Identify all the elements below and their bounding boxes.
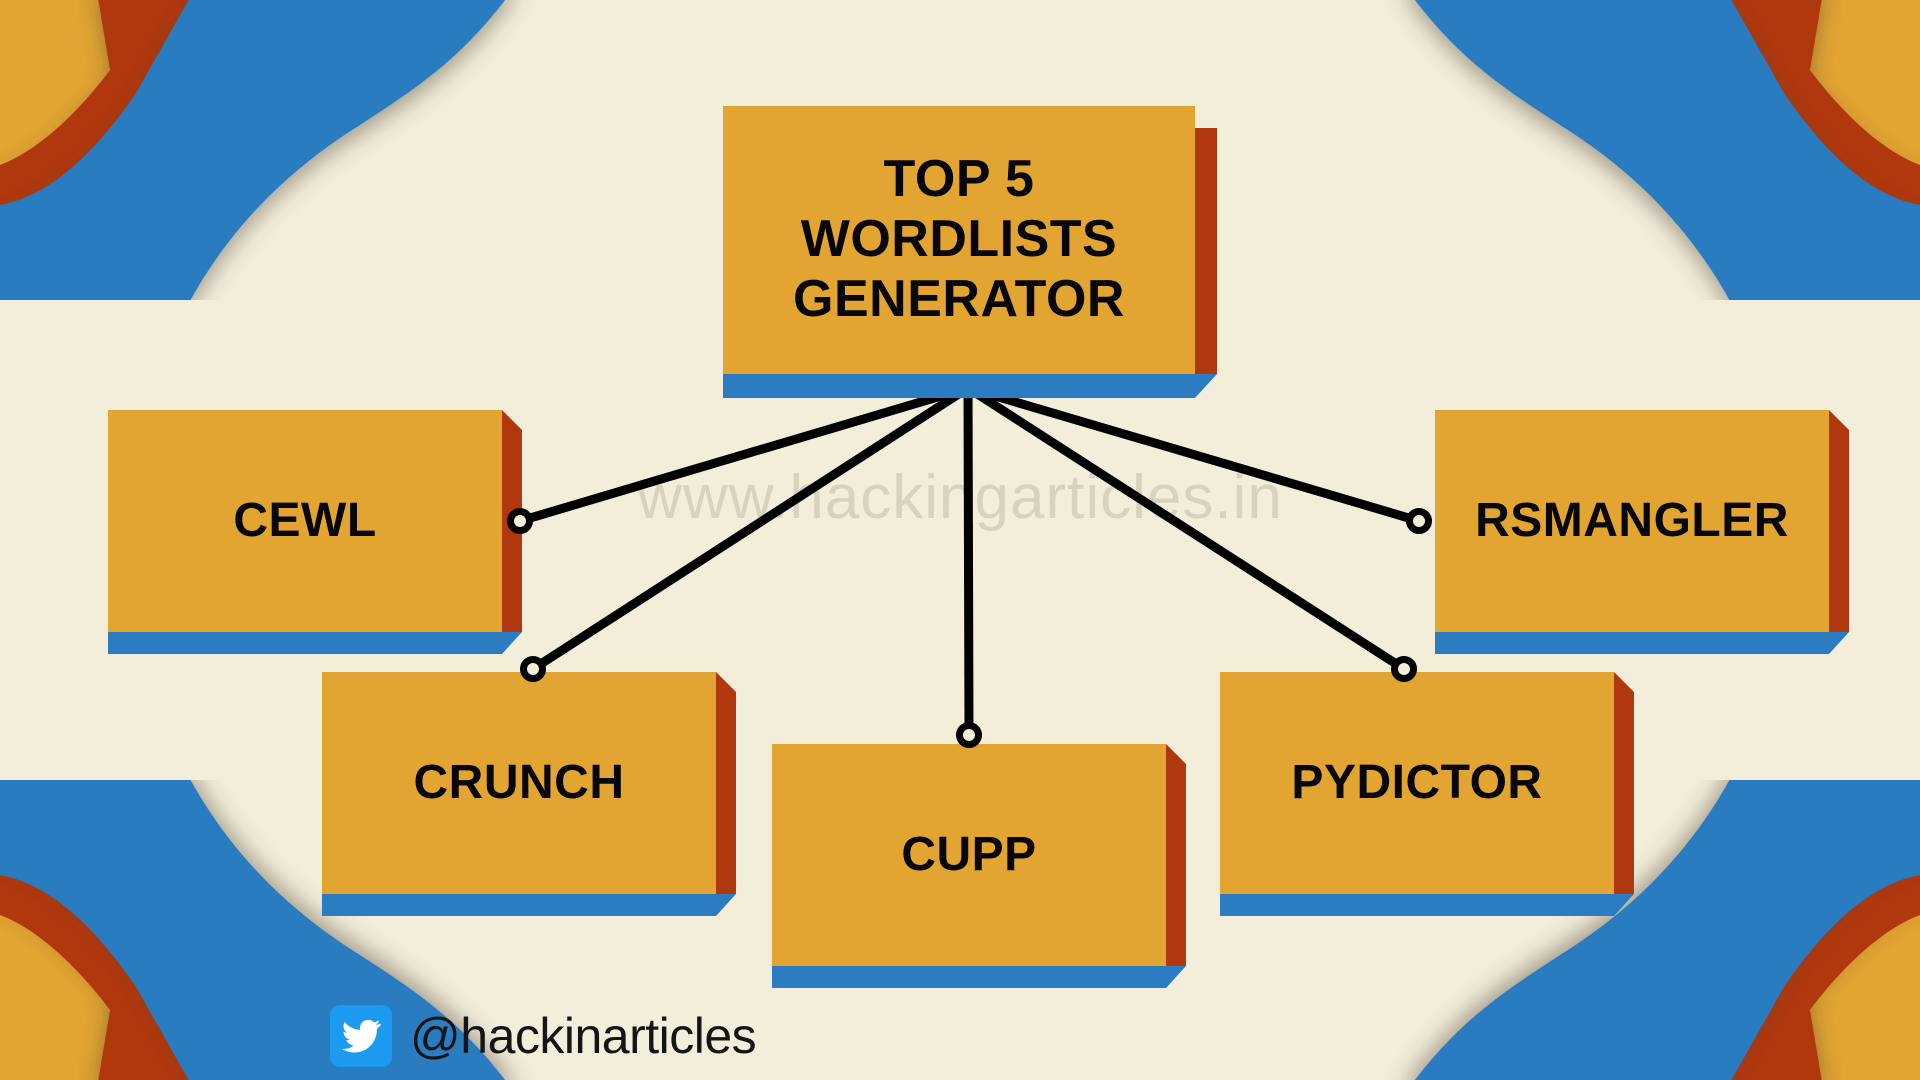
twitter-credit[interactable]: @hackinarticles [330, 1005, 756, 1067]
connector-node-cupp[interactable] [956, 722, 982, 748]
rsmangler-side-bevel [1829, 410, 1849, 430]
node-box-cewl[interactable]: CEWL [108, 410, 502, 632]
title-card-label: TOP 5 WORDLISTS GENERATOR [793, 150, 1125, 329]
connector-node-cewl[interactable] [507, 508, 533, 534]
rsmangler-front-face: RSMANGLER [1435, 410, 1829, 632]
title-card-bottom-bevel [1195, 374, 1217, 398]
twitter-icon[interactable] [330, 1005, 392, 1067]
crunch-label: CRUNCH [414, 755, 625, 810]
title-card-front-face: TOP 5 WORDLISTS GENERATOR [723, 106, 1195, 374]
title-line-3: GENERATOR [793, 270, 1125, 330]
cewl-bottom-bevel [502, 632, 522, 654]
cupp-label: CUPP [901, 827, 1036, 882]
crunch-bottom-face [322, 894, 716, 916]
pydictor-label: PYDICTOR [1291, 755, 1542, 810]
node-box-rsmangler[interactable]: RSMANGLER [1435, 410, 1829, 632]
edge-hub-to-crunch [533, 388, 968, 669]
connector-node-crunch[interactable] [520, 656, 546, 682]
title-card-side-face-fill [1195, 128, 1217, 374]
cewl-front-face: CEWL [108, 410, 502, 632]
title-line-1: TOP 5 [793, 150, 1125, 210]
title-line-2: WORDLISTS [793, 210, 1125, 270]
infographic-canvas: www.hackingarticles.in TOP 5 WORDLISTS G… [0, 0, 1920, 1080]
rsmangler-side-face [1829, 430, 1849, 632]
cewl-side-bevel [502, 410, 522, 430]
pydictor-side-bevel [1614, 672, 1634, 692]
node-box-cupp[interactable]: CUPP [772, 744, 1166, 966]
crunch-front-face: CRUNCH [322, 672, 716, 894]
edge-hub-to-cupp [968, 388, 969, 735]
cupp-bottom-face [772, 966, 1166, 988]
connector-node-pydictor[interactable] [1391, 656, 1417, 682]
pydictor-bottom-bevel [1614, 894, 1634, 916]
title-card-bottom-face [723, 374, 1195, 398]
twitter-handle-text: @hackinarticles [410, 1007, 756, 1065]
connector-node-rsmangler[interactable] [1406, 508, 1432, 534]
rsmangler-bottom-face [1435, 632, 1829, 654]
title-card: TOP 5 WORDLISTS GENERATOR [723, 106, 1195, 374]
cewl-label: CEWL [233, 493, 376, 548]
crunch-bottom-bevel [716, 894, 736, 916]
edge-hub-to-cewl [520, 388, 968, 521]
pydictor-side-face [1614, 692, 1634, 894]
cewl-bottom-face [108, 632, 502, 654]
edge-hub-to-pydictor [968, 388, 1404, 669]
cupp-side-bevel [1166, 744, 1186, 764]
pydictor-front-face: PYDICTOR [1220, 672, 1614, 894]
node-box-crunch[interactable]: CRUNCH [322, 672, 716, 894]
crunch-side-face [716, 692, 736, 894]
node-box-pydictor[interactable]: PYDICTOR [1220, 672, 1614, 894]
crunch-side-bevel [716, 672, 736, 692]
cupp-front-face: CUPP [772, 744, 1166, 966]
cupp-side-face [1166, 764, 1186, 966]
pydictor-bottom-face [1220, 894, 1614, 916]
cupp-bottom-bevel [1166, 966, 1186, 988]
rsmangler-bottom-bevel [1829, 632, 1849, 654]
rsmangler-label: RSMANGLER [1475, 493, 1789, 548]
edge-hub-to-rsmangler [968, 388, 1419, 521]
